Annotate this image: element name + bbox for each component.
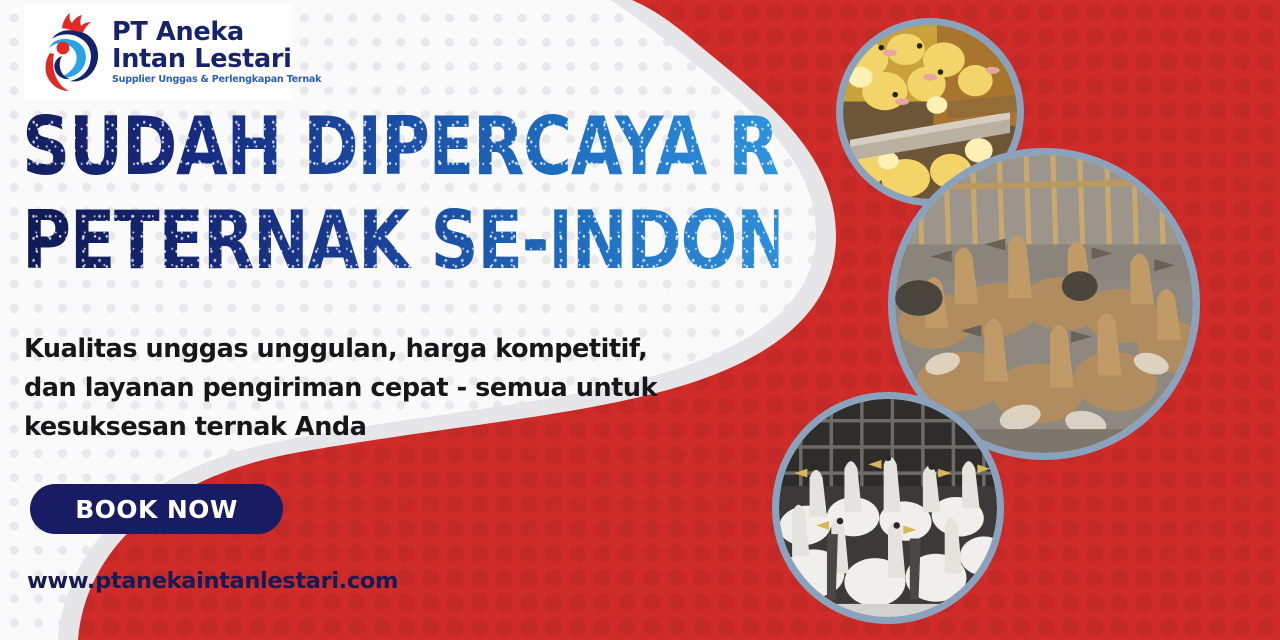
rooster-swirl-icon [32, 10, 106, 94]
photo-geese-image [779, 399, 997, 617]
book-now-button[interactable]: BOOK NOW [30, 484, 283, 534]
website-url[interactable]: www.ptanekaintanlestari.com [27, 568, 398, 594]
book-now-label: BOOK NOW [75, 495, 238, 524]
headline: SUDAH DIPERCAYA RATUSAN PETERNAK SE-INDO… [22, 108, 802, 271]
brand-logo[interactable]: PT Aneka Intan Lestari Supplier Unggas &… [24, 4, 292, 100]
headline-line-1: SUDAH DIPERCAYA RATUSAN [22, 108, 779, 187]
headline-line-2: PETERNAK SE-INDONESIA [22, 202, 779, 281]
logo-tagline: Supplier Unggas & Perlengkapan Ternak [112, 74, 321, 85]
promo-banner: PT Aneka Intan Lestari Supplier Unggas &… [0, 0, 1280, 640]
subtitle-text: Kualitas unggas unggulan, harga kompetit… [24, 330, 699, 446]
logo-line-2: Intan Lestari [112, 46, 321, 72]
photo-geese [772, 392, 1004, 624]
logo-line-1: PT Aneka [112, 19, 321, 45]
